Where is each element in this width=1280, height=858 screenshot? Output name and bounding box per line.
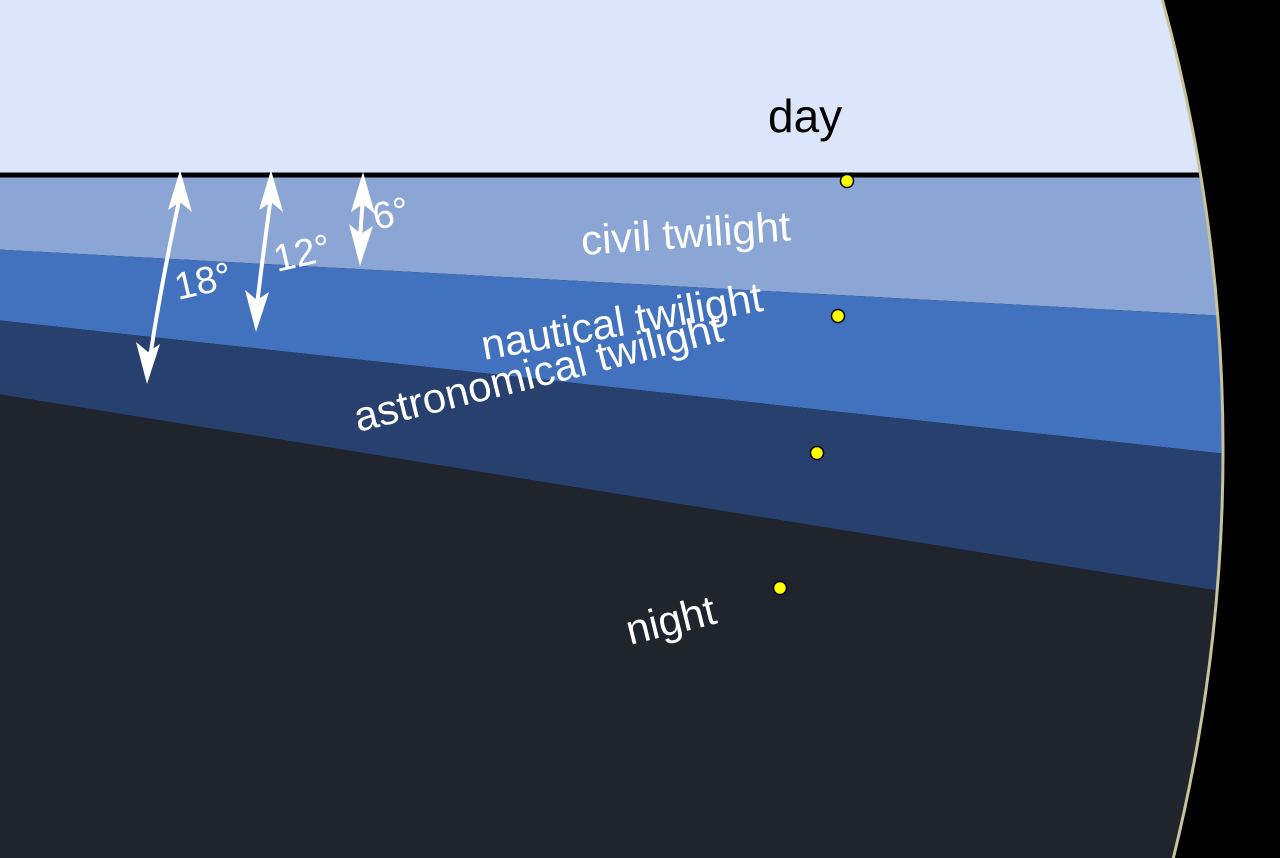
boundary-marker-nautical [811, 447, 824, 460]
globe-body [0, 0, 1280, 858]
zone-label-day: day [768, 90, 842, 142]
boundary-marker-horizon [841, 175, 854, 188]
boundary-marker-civil [832, 310, 845, 323]
diagram-canvas: 18° 12° 6° day civil twilight nautical t… [0, 0, 1280, 858]
twilight-zones-diagram: 18° 12° 6° day civil twilight nautical t… [0, 0, 1280, 858]
zone-band-day [0, 0, 1280, 177]
boundary-marker-astronomical [774, 582, 787, 595]
